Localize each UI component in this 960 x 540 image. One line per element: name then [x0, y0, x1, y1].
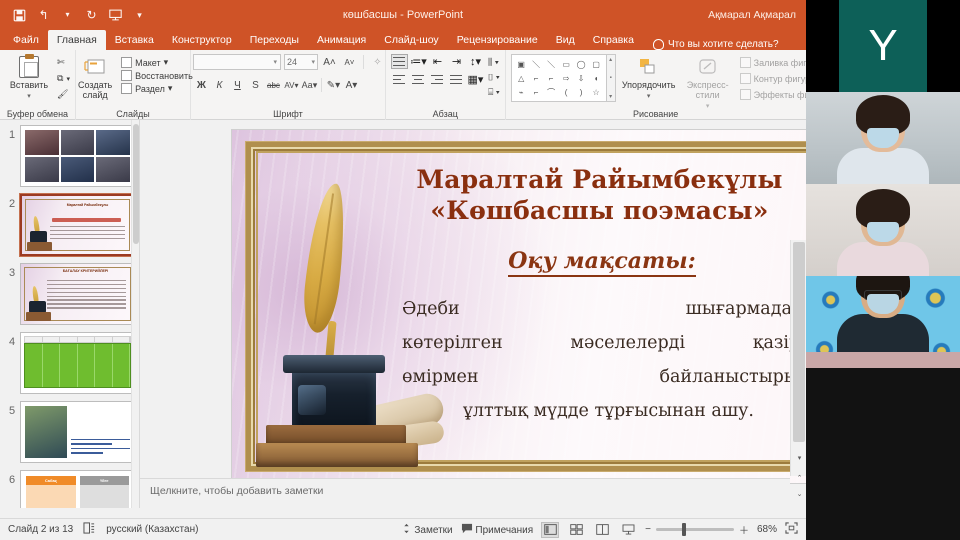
- screen: ↰ ▾ ↻ ▾ көшбасшы - PowerPoint Ақмарал Ақ…: [0, 0, 960, 540]
- tab-view[interactable]: Вид: [547, 30, 584, 50]
- shape-fill-icon: [740, 57, 751, 68]
- tab-animations[interactable]: Анимация: [308, 30, 375, 50]
- align-left-button[interactable]: [391, 72, 408, 87]
- avatar: Y: [839, 0, 927, 92]
- video-call-panel: Y: [806, 0, 960, 540]
- ribbon-body: Вставить ▾ ✄ ⧉ ▾ 🖌 Буфер обмена: [0, 50, 806, 120]
- thumbnail-slide-3[interactable]: БАҒАЛАУ КРИТЕРИЙЛЕРІ: [20, 263, 135, 325]
- ribbon-tabs: Файл Главная Вставка Конструктор Переход…: [0, 30, 806, 50]
- previous-slide-icon[interactable]: ⌃: [794, 472, 805, 483]
- slide-subtitle[interactable]: Оқу мақсаты:: [402, 248, 802, 274]
- align-text-button[interactable]: ⌷ ▾: [488, 72, 500, 83]
- thumbnail-slide-6[interactable]: Сабақ Үйге: [20, 470, 135, 508]
- feather-icon: [300, 182, 349, 335]
- avatar-letter: Y: [868, 21, 897, 71]
- layout-button[interactable]: Макет ▾: [121, 57, 193, 68]
- columns-button[interactable]: ▦▾: [467, 72, 484, 87]
- tab-transitions[interactable]: Переходы: [241, 30, 308, 50]
- mini-photo-text-content: [21, 402, 134, 462]
- body-word: шығармадағы: [686, 292, 806, 326]
- fit-slide-to-window-icon[interactable]: [785, 522, 798, 537]
- participant-tile-4[interactable]: [806, 368, 960, 540]
- increase-font-size-icon[interactable]: A˄: [321, 54, 338, 70]
- account-name[interactable]: Ақмарал Ақмарал: [708, 9, 796, 21]
- redo-icon[interactable]: ↻: [84, 8, 99, 23]
- decrease-indent-button[interactable]: ⇤: [429, 54, 446, 69]
- group-clipboard: Вставить ▾ ✄ ⧉ ▾ 🖌 Буфер обмена: [0, 50, 76, 120]
- thumbnail-number: 5: [4, 401, 20, 417]
- shape-pie-icon: ◖: [589, 71, 604, 85]
- quick-access-toolbar: ↰ ▾ ↻ ▾: [6, 8, 147, 23]
- group-font: ▾ 24▾ A˄ A˅ ✧ Ж К Ч S abc AV▾ Aa▾: [191, 50, 386, 120]
- slide-title-line2: «Көшбасшы поэмасы»: [382, 195, 806, 226]
- body-word: өмірмен: [402, 360, 479, 394]
- quick-styles-icon: [696, 56, 720, 78]
- slide-canvas-area: Маралтай Райымбекұлы «Көшбасшы поэмасы» …: [140, 120, 806, 508]
- mini-slide-3-content: БАҒАЛАУ КРИТЕРИЙЛЕРІ: [21, 264, 134, 324]
- thumbnail-slide-1[interactable]: [20, 125, 135, 187]
- tab-help[interactable]: Справка: [584, 30, 643, 50]
- thumbnail-row[interactable]: 6 Сабақ Үйге: [0, 465, 139, 508]
- new-slide-icon: [83, 56, 107, 78]
- text-shadow-button[interactable]: S: [247, 77, 264, 93]
- participant-tile-2[interactable]: [806, 184, 960, 276]
- zoom-in-icon[interactable]: ＋: [739, 522, 749, 537]
- group-label-drawing: Рисование: [596, 109, 716, 119]
- paste-label: Вставить: [10, 80, 48, 90]
- lightbulb-icon: [653, 39, 664, 50]
- shape-arrow-right-icon: ⇨: [559, 71, 574, 85]
- italic-button[interactable]: К: [211, 77, 228, 93]
- body-word: мәселелерді: [570, 326, 685, 360]
- font-size-value: 24: [287, 57, 297, 67]
- shape-scribble-icon: ⌁: [514, 85, 529, 99]
- group-label-paragraph: Абзац: [386, 109, 505, 119]
- shape-arc-icon: ⌒: [544, 85, 559, 99]
- notes-toggle-button[interactable]: Заметки: [401, 523, 453, 536]
- slide-counter[interactable]: Слайд 2 из 13: [8, 524, 73, 535]
- align-right-button[interactable]: [429, 72, 446, 87]
- paste-button[interactable]: Вставить ▾: [5, 54, 53, 100]
- slide-body-text[interactable]: Әдеби шығармадағы көтерілген мәселелерді…: [402, 292, 806, 428]
- decrease-font-size-icon[interactable]: A˅: [341, 54, 358, 70]
- thumbnail-slide-5[interactable]: [20, 401, 135, 463]
- zoom-out-icon[interactable]: −: [645, 524, 651, 535]
- thumbnail-slide-4[interactable]: [20, 332, 135, 394]
- layout-icon: [121, 57, 132, 68]
- shape-fill-button[interactable]: Заливка фигуры: [740, 57, 806, 68]
- mini-title-2: Маралтай Райымбекұлы: [48, 203, 127, 207]
- notes-placeholder: Щелкните, чтобы добавить заметки: [150, 485, 323, 497]
- mini-portrait-grid: [21, 126, 134, 186]
- character-spacing-button[interactable]: AV▾: [283, 77, 300, 93]
- slide-subtitle-text: Оқу мақсаты:: [508, 248, 696, 277]
- reading-view-button[interactable]: [593, 522, 611, 538]
- shape-rectangle-icon: ▭: [559, 57, 574, 71]
- zoom-track[interactable]: [656, 528, 734, 531]
- undo-dropdown-icon[interactable]: ▾: [60, 8, 75, 23]
- format-painter-icon[interactable]: 🖌: [57, 89, 70, 100]
- group-slides: Создать слайд Макет ▾ Восстановить Разде…: [76, 50, 191, 120]
- current-slide[interactable]: Маралтай Райымбекұлы «Көшбасшы поэмасы» …: [232, 130, 806, 483]
- tab-file[interactable]: Файл: [4, 30, 48, 50]
- participant-video-2: [837, 196, 929, 276]
- new-slide-label: Создать слайд: [73, 80, 117, 100]
- shapes-scrollbar[interactable]: ▴▪▾: [607, 54, 616, 102]
- shape-curve-icon: ⌐: [529, 85, 544, 99]
- bold-button[interactable]: Ж: [193, 77, 210, 93]
- zoom-level[interactable]: 68%: [757, 524, 777, 535]
- slideshow-button[interactable]: [619, 522, 637, 538]
- zoom-slider[interactable]: − ＋: [645, 522, 749, 537]
- mini-title-3: БАҒАЛАУ КРИТЕРИЙЛЕРІ: [43, 269, 128, 273]
- shape-arrow-down-icon: ⇩: [574, 71, 589, 85]
- shape-elbow-icon: ⌐: [529, 71, 544, 85]
- section-icon: [121, 83, 132, 94]
- shape-oval-icon: ◯: [574, 57, 589, 71]
- group-label-font: Шрифт: [191, 109, 385, 119]
- shape-elbow2-icon: ⌐: [544, 71, 559, 85]
- powerpoint-window: ↰ ▾ ↻ ▾ көшбасшы - PowerPoint Ақмарал Ақ…: [0, 0, 806, 540]
- scroll-down-arrow-icon[interactable]: ▾: [794, 452, 805, 463]
- thumbnail-scroll-grip[interactable]: [133, 124, 139, 244]
- avatar-tile[interactable]: Y: [806, 0, 960, 92]
- thumbnail-row[interactable]: 4: [0, 327, 139, 396]
- thumbnail-number: 4: [4, 332, 20, 348]
- font-color-button[interactable]: A▾: [343, 77, 360, 93]
- group-drawing: ▣＼＼ ▭◯▢ △⌐⌐ ⇨⇩◖ ⌁⌐⌒ ()☆ ▴▪▾ У: [506, 50, 806, 120]
- canvas-vertical-scrollbar[interactable]: ▾ ⌃ ⌄: [790, 240, 806, 476]
- status-bar: Слайд 2 из 13 русский (Казахстан) Заметк…: [0, 518, 806, 540]
- reset-icon: [121, 70, 132, 81]
- shape-star-icon: ☆: [589, 85, 604, 99]
- reset-button[interactable]: Восстановить: [121, 70, 193, 81]
- body-line-1: Әдеби шығармадағы: [402, 292, 806, 326]
- thumbnail-number: 6: [4, 470, 20, 486]
- undo-icon[interactable]: ↰: [36, 8, 51, 23]
- mini-two-boxes-content: Сабақ Үйге: [21, 471, 134, 508]
- title-bar: ↰ ▾ ↻ ▾ көшбасшы - PowerPoint Ақмарал Ақ…: [0, 0, 806, 30]
- language-indicator[interactable]: русский (Казахстан): [106, 524, 198, 535]
- tab-slideshow[interactable]: Слайд-шоу: [375, 30, 447, 50]
- group-paragraph: ≔▾ ⇤ ⇥ ↕▾ ▦▾: [386, 50, 506, 120]
- work-area: 1 2 Маралтай Райымбекұлы: [0, 120, 806, 508]
- thumbnail-number: 1: [4, 125, 20, 141]
- inkwell-icon: [292, 367, 376, 429]
- tab-insert[interactable]: Вставка: [106, 30, 163, 50]
- shape-roundrect-icon: ▢: [589, 57, 604, 71]
- mini-box1-label: Сабақ: [26, 476, 76, 485]
- paste-icon: [17, 56, 41, 78]
- shape-effects-icon: [740, 89, 751, 100]
- participant-tile-3-strip: [806, 352, 960, 368]
- save-icon[interactable]: [12, 8, 27, 23]
- tell-me-box[interactable]: Что вы хотите сделать?: [643, 39, 779, 50]
- shape-effects-button[interactable]: Эффекты фигуры: [740, 89, 806, 100]
- body-line-3: өмірмен байланыстырып,: [402, 360, 806, 394]
- body-line-2: көтерілген мәселелерді қазіргі: [402, 326, 806, 360]
- customize-quick-access-icon[interactable]: ▾: [132, 8, 147, 23]
- cut-icon[interactable]: ✄: [57, 57, 70, 68]
- tab-review[interactable]: Рецензирование: [448, 30, 547, 50]
- text-highlight-button[interactable]: ✎▾: [325, 77, 342, 93]
- line-spacing-button[interactable]: ↕▾: [467, 54, 484, 69]
- strikethrough-button[interactable]: abc: [265, 77, 282, 93]
- font-size-input[interactable]: 24▾: [284, 54, 318, 70]
- underline-button[interactable]: Ч: [229, 77, 246, 93]
- tell-me-label: Что вы хотите сделать?: [668, 39, 779, 50]
- slide-sorter-button[interactable]: [567, 522, 585, 538]
- clear-formatting-icon[interactable]: ✧: [369, 54, 386, 70]
- shape-triangle-icon: △: [514, 71, 529, 85]
- numbering-button[interactable]: ≔▾: [410, 54, 427, 69]
- shape-outline-button[interactable]: Контур фигуры: [740, 73, 806, 84]
- align-center-button[interactable]: [410, 72, 427, 87]
- body-word: Әдеби: [402, 292, 460, 326]
- section-button[interactable]: Раздел ▾: [121, 83, 193, 94]
- change-case-button[interactable]: Aa▾: [301, 77, 318, 93]
- tab-design[interactable]: Конструктор: [163, 30, 241, 50]
- arrange-icon: [637, 56, 661, 78]
- participant-tile-1[interactable]: [806, 92, 960, 184]
- arrange-button[interactable]: Упорядочить ▾: [620, 54, 678, 100]
- tab-home[interactable]: Главная: [48, 30, 106, 50]
- shape-line-icon: ＼: [529, 57, 544, 71]
- thumbnail-row[interactable]: 5: [0, 396, 139, 465]
- group-label-slides: Слайды: [76, 109, 190, 119]
- book2-icon: [256, 443, 418, 467]
- group-label-clipboard: Буфер обмена: [0, 109, 75, 119]
- participant-video-3: [837, 276, 929, 354]
- body-word: көтерілген: [402, 326, 503, 360]
- notes-pane[interactable]: Щелкните, чтобы добавить заметки: [140, 478, 790, 508]
- thumbnail-number: 3: [4, 263, 20, 279]
- justify-button[interactable]: [448, 72, 465, 87]
- copy-icon[interactable]: ⧉ ▾: [57, 73, 70, 84]
- comments-toggle-button[interactable]: Примечания: [461, 523, 534, 536]
- zoom-knob[interactable]: [682, 523, 686, 536]
- thumbnail-scrollbar[interactable]: [131, 120, 139, 508]
- shape-brace-right-icon: ): [574, 85, 589, 99]
- thumbnail-number: 2: [4, 194, 20, 210]
- mini-box2-label: Үйге: [80, 476, 130, 485]
- thumbnail-row[interactable]: 3 БАҒАЛАУ КРИТЕРИЙЛЕРІ: [0, 258, 139, 327]
- font-name-input[interactable]: ▾: [193, 54, 281, 70]
- participant-tile-3[interactable]: [806, 276, 960, 368]
- arrange-dropdown-icon[interactable]: ▾: [647, 92, 651, 100]
- accessibility-icon[interactable]: [83, 522, 96, 537]
- slide-thumbnail-pane[interactable]: 1 2 Маралтай Райымбекұлы: [0, 120, 140, 508]
- normal-view-button[interactable]: [541, 522, 559, 538]
- thumbnail-slide-2[interactable]: Маралтай Райымбекұлы: [20, 194, 135, 256]
- increase-indent-button[interactable]: ⇥: [448, 54, 465, 69]
- shape-brace-left-icon: (: [559, 85, 574, 99]
- shape-rect-picture-icon: ▣: [514, 57, 529, 71]
- shape-line2-icon: ＼: [544, 57, 559, 71]
- thumbnail-row[interactable]: 1: [0, 120, 139, 189]
- quick-styles-label: Экспресс-стили: [682, 80, 734, 100]
- new-slide-button[interactable]: Создать слайд: [73, 54, 117, 100]
- mini-table-content: [21, 333, 134, 393]
- shape-outline-icon: [740, 73, 751, 84]
- thumbnail-row[interactable]: 2 Маралтай Райымбекұлы: [0, 189, 139, 258]
- quick-styles-button[interactable]: Экспресс-стили ▾: [682, 54, 734, 110]
- canvas-scroll-grip[interactable]: [793, 242, 805, 442]
- bullets-button[interactable]: [391, 54, 408, 69]
- text-direction-button[interactable]: ⫼ ▾: [488, 57, 500, 68]
- slide-title-line1: Маралтай Райымбекұлы: [382, 164, 806, 195]
- body-line-4: ұлттық мүдде тұрғысынан ашу.: [402, 394, 806, 428]
- participant-video-1: [837, 102, 929, 184]
- paste-dropdown-icon[interactable]: ▾: [27, 92, 31, 100]
- body-word: байланыстырып,: [659, 360, 806, 394]
- arrange-label: Упорядочить: [622, 80, 676, 90]
- convert-to-smartart-button[interactable]: ⌸ ▾: [488, 87, 500, 98]
- mini-slide-2-content: Маралтай Райымбекұлы: [22, 196, 133, 254]
- shapes-gallery[interactable]: ▣＼＼ ▭◯▢ △⌐⌐ ⇨⇩◖ ⌁⌐⌒ ()☆ ▴▪▾: [511, 54, 616, 102]
- start-presentation-icon[interactable]: [108, 8, 123, 23]
- slide-title[interactable]: Маралтай Райымбекұлы «Көшбасшы поэмасы»: [382, 164, 806, 226]
- next-slide-icon[interactable]: ⌄: [794, 488, 805, 499]
